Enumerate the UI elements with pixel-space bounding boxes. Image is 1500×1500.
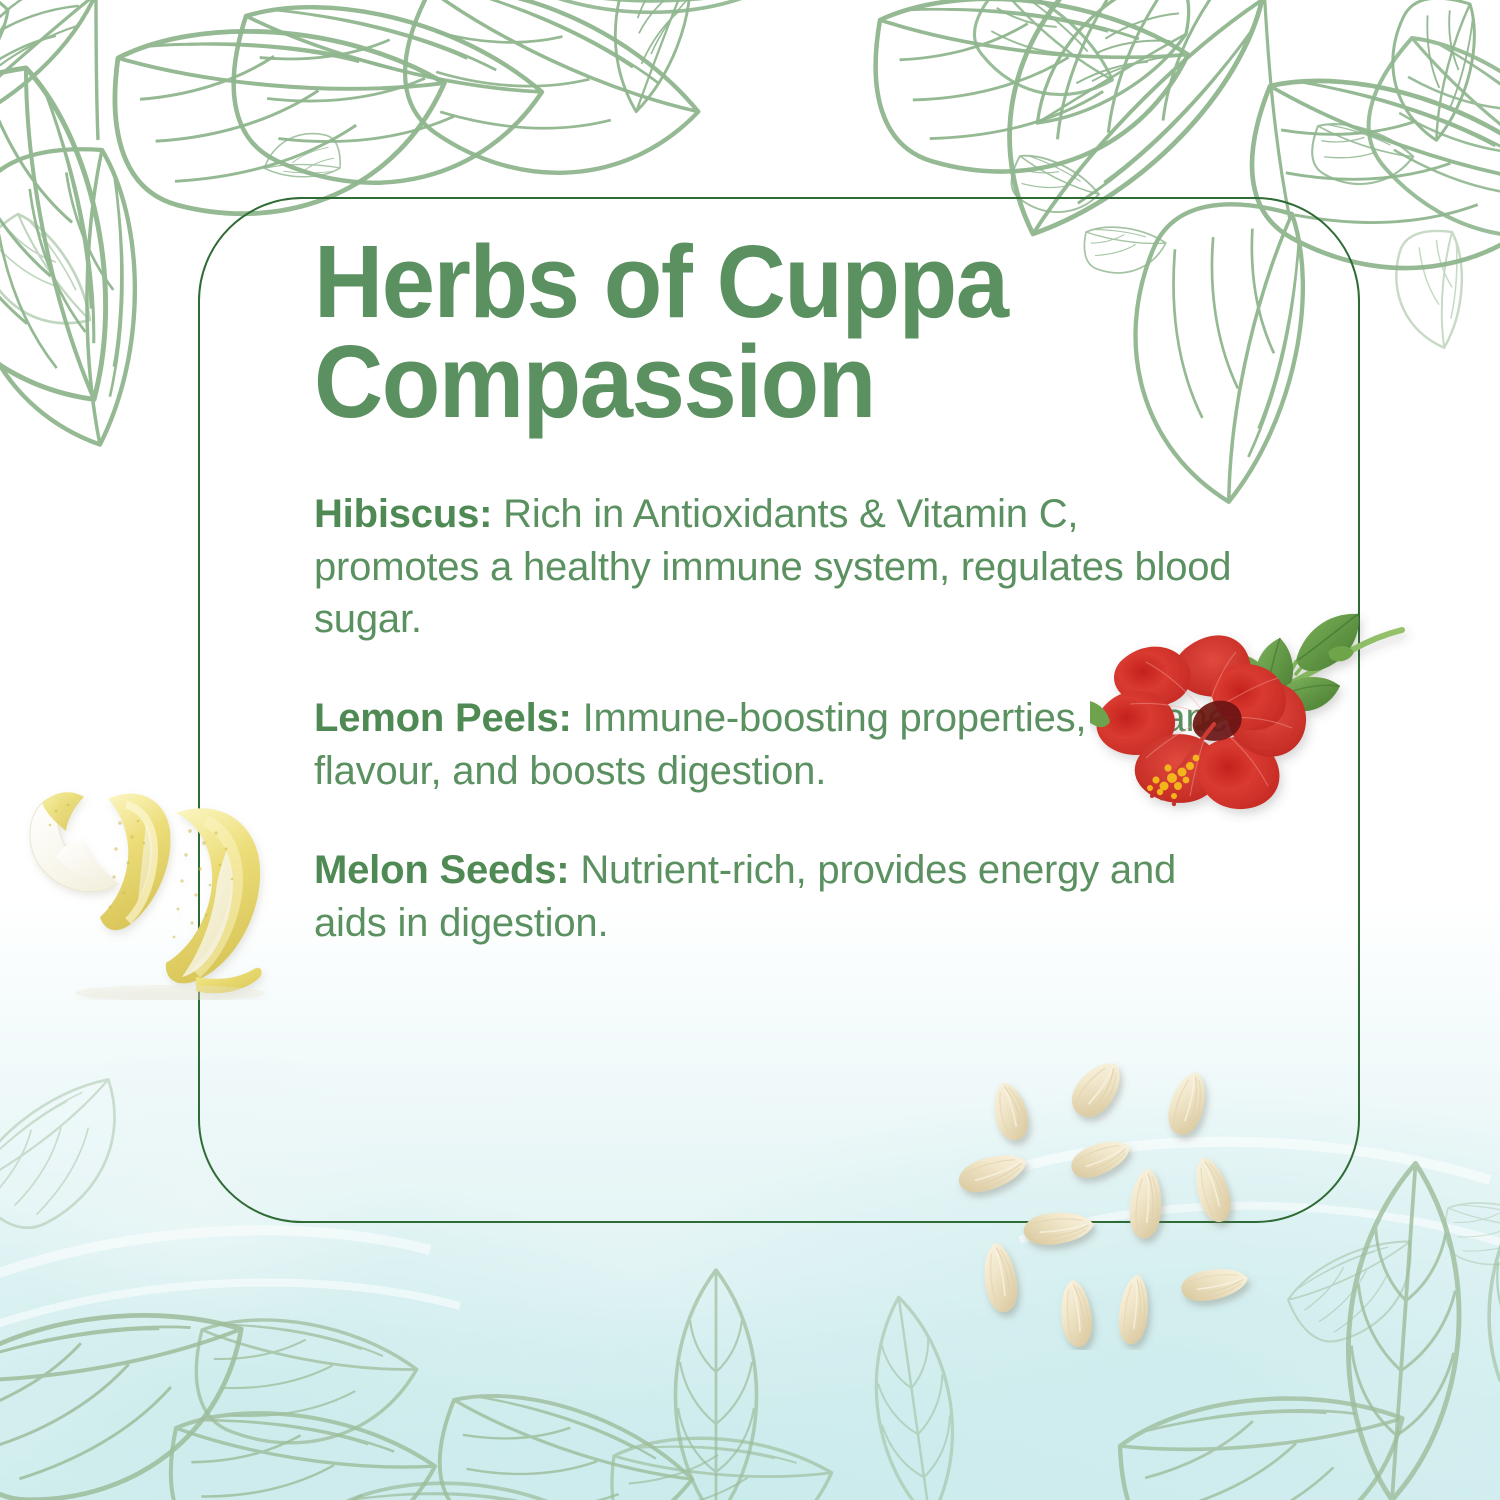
poster-canvas: Herbs of Cuppa Compassion Hibiscus: Rich…: [0, 0, 1500, 1500]
herb-label-lemon-peels: Lemon Peels:: [314, 696, 572, 740]
list-item-lemon-peels: Lemon Peels: Immune-boosting properties,…: [314, 692, 1274, 798]
herb-list: Hibiscus: Rich in Antioxidants & Vitamin…: [314, 488, 1304, 950]
poster-content: Herbs of Cuppa Compassion Hibiscus: Rich…: [314, 232, 1304, 949]
herb-label-hibiscus: Hibiscus:: [314, 492, 492, 536]
page-title: Herbs of Cuppa Compassion: [314, 232, 1235, 432]
herb-label-melon-seeds: Melon Seeds:: [314, 848, 569, 892]
list-item-hibiscus: Hibiscus: Rich in Antioxidants & Vitamin…: [314, 488, 1234, 646]
list-item-melon-seeds: Melon Seeds: Nutrient-rich, provides ene…: [314, 844, 1194, 950]
